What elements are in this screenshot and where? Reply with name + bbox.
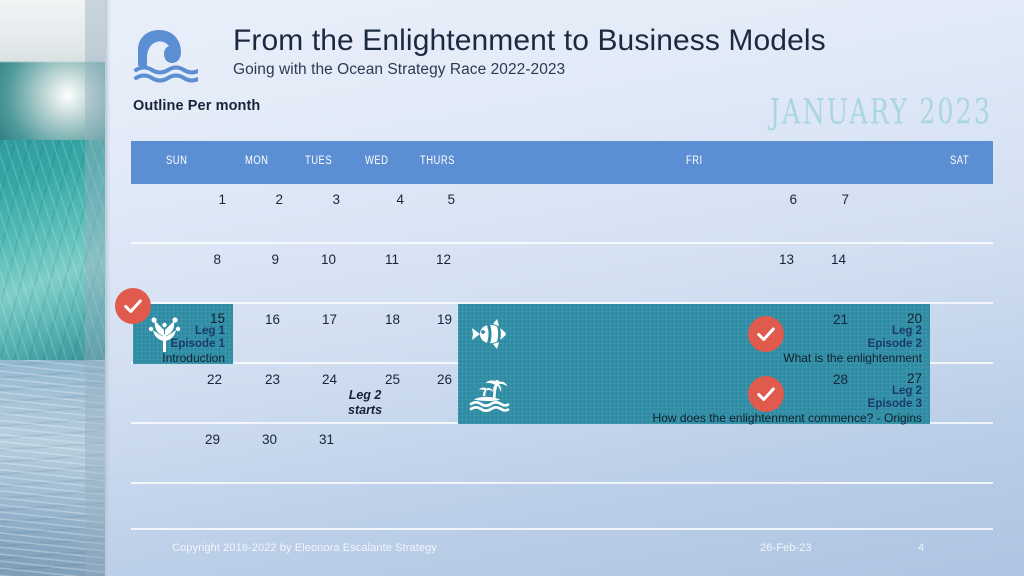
calendar-week-rows: 123456789101112131415Leg 1Episode 1Intro… [131, 184, 993, 484]
event-leg-label: Leg 1 [195, 325, 225, 337]
calendar-day-cell[interactable]: 13 [760, 252, 794, 267]
slide-canvas: From the Enlightenment to Business Model… [0, 0, 1024, 576]
ocean-wave-logo-icon [132, 28, 198, 84]
palm-island-icon [468, 374, 510, 414]
calendar-day-cell[interactable]: 21 [814, 312, 848, 327]
weekday-header-fri: FRI [686, 155, 703, 167]
calendar-day-cell[interactable]: 12 [417, 252, 451, 267]
calendar-event-leg2-ep3[interactable]: 27Leg 2Episode 3How does the enlightenme… [458, 364, 930, 424]
footer-divider [131, 528, 993, 530]
event-description: Introduction [162, 351, 225, 365]
page-subtitle: Going with the Ocean Strategy Race 2022-… [233, 61, 826, 79]
calendar-day-cell[interactable]: 17 [303, 312, 337, 327]
outline-label: Outline Per month [133, 98, 260, 114]
calendar-day-cell[interactable]: 22 [188, 372, 222, 387]
footer-page-number: 4 [918, 542, 924, 554]
calendar-day-cell[interactable]: 4 [370, 192, 404, 207]
footer-date: 26-Feb-23 [760, 542, 812, 554]
event-episode-label: Episode 2 [868, 338, 922, 350]
calendar-day-cell[interactable]: 28 [814, 372, 848, 387]
footer-copyright: Copyright 2016-2022 by Eleonora Escalant… [172, 542, 437, 554]
event-day-number: 15 [210, 311, 225, 326]
calendar-day-cell[interactable]: 7 [815, 192, 849, 207]
weekday-header-sat: SAT [950, 155, 969, 167]
calendar-day-cell[interactable]: 5 [421, 192, 455, 207]
event-leg-label: Leg 2 [892, 325, 922, 337]
calendar-day-cell[interactable]: 23 [246, 372, 280, 387]
weekday-header-wed: WED [365, 155, 388, 167]
calendar-day-cell[interactable]: 16 [246, 312, 280, 327]
calendar-day-cell[interactable]: 31 [300, 432, 334, 447]
calendar-day-cell[interactable]: 30 [243, 432, 277, 447]
event-day-number: 27 [907, 371, 922, 386]
event-leg-label: Leg 2 [892, 385, 922, 397]
completed-check-badge[interactable] [748, 316, 784, 352]
calendar-day-cell[interactable]: 1 [192, 192, 226, 207]
calendar-day-cell[interactable]: 3 [306, 192, 340, 207]
completed-check-badge[interactable] [115, 288, 151, 324]
calendar-day-cell[interactable]: 19 [418, 312, 452, 327]
calendar-note-line1: Leg 2 [348, 388, 382, 403]
weekday-header-mon: MON [245, 155, 268, 167]
calendar-day-cell[interactable]: 29 [186, 432, 220, 447]
calendar-day-cell[interactable]: 9 [245, 252, 279, 267]
calendar-weekday-header: SUNMONTUESWEDTHURSFRISAT [131, 141, 993, 184]
calendar-week-row: 27Leg 2Episode 3How does the enlightenme… [131, 364, 993, 424]
calendar-day-cell[interactable]: 14 [812, 252, 846, 267]
calendar-week-row: 293031 [131, 424, 993, 484]
photo-overlay-veil [85, 0, 107, 576]
calendar-day-cell[interactable]: 25 [366, 372, 400, 387]
page-title: From the Enlightenment to Business Model… [233, 24, 826, 57]
event-description: How does the enlightenment commence? - O… [653, 411, 922, 425]
calendar-day-cell[interactable]: 26 [418, 372, 452, 387]
month-title: JANUARY 2023 [770, 92, 992, 132]
calendar-day-cell[interactable]: 6 [763, 192, 797, 207]
calendar-week-row: 1234567 [131, 184, 993, 244]
event-day-number: 20 [907, 311, 922, 326]
event-description: What is the enlightenment [783, 351, 922, 365]
calendar-day-cell[interactable]: 18 [366, 312, 400, 327]
calendar-grid: SUNMONTUESWEDTHURSFRISAT 123456789101112… [131, 141, 993, 496]
clownfish-icon [468, 314, 510, 354]
completed-check-badge[interactable] [748, 376, 784, 412]
calendar-event-leg2-ep2[interactable]: 20Leg 2Episode 2What is the enlightenmen… [458, 304, 930, 364]
calendar-day-cell[interactable]: 24 [303, 372, 337, 387]
calendar-day-cell[interactable]: 11 [365, 252, 399, 267]
calendar-week-row: 15Leg 1Episode 1Introduction20Leg 2Episo… [131, 304, 993, 364]
photo-edge-fade [105, 0, 111, 576]
calendar-week-row: 891011121314 [131, 244, 993, 304]
title-block: From the Enlightenment to Business Model… [233, 24, 826, 79]
calendar-day-cell[interactable]: 10 [302, 252, 336, 267]
calendar-day-cell[interactable]: 2 [249, 192, 283, 207]
weekday-header-tues: TUES [305, 155, 332, 167]
event-episode-label: Episode 3 [868, 398, 922, 410]
weekday-header-sun: SUN [166, 155, 187, 167]
event-episode-label: Episode 1 [171, 338, 225, 350]
calendar-note: Leg 2starts [348, 388, 382, 419]
calendar-day-cell[interactable]: 8 [187, 252, 221, 267]
calendar-note-line2: starts [348, 403, 382, 418]
weekday-header-thurs: THURS [420, 155, 455, 167]
